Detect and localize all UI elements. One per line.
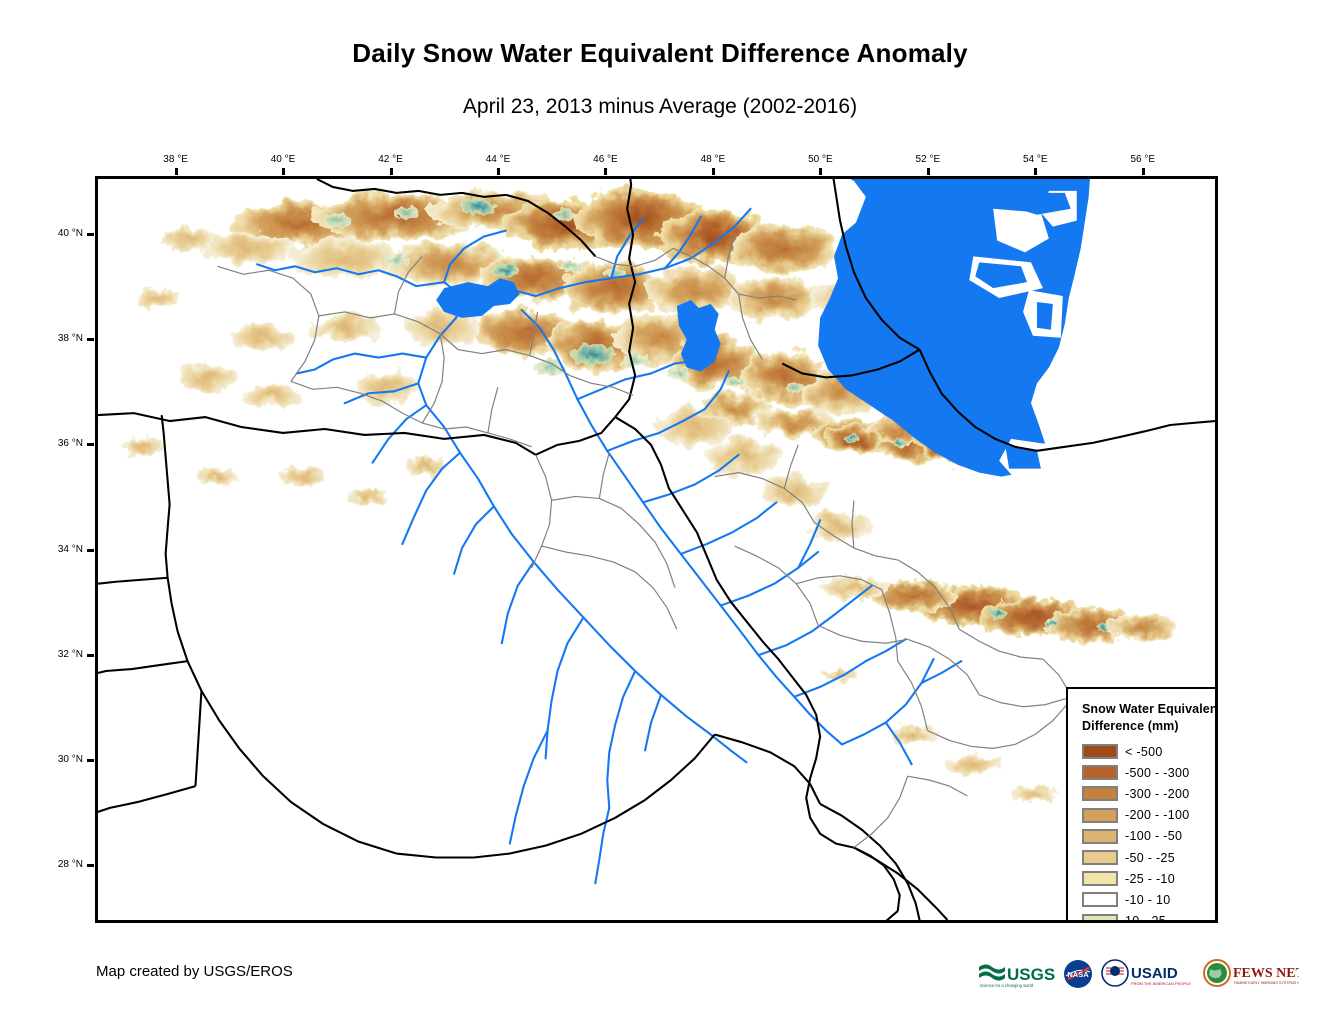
svg-text:FAMINE EARLY WARNING SYSTEMS N: FAMINE EARLY WARNING SYSTEMS NETWORK xyxy=(1234,981,1299,985)
longitude-tick-label: 52 °E xyxy=(905,154,951,165)
legend-class-label: -25 - -10 xyxy=(1125,872,1175,886)
usgs-logo[interactable]: USGS science for a changing world xyxy=(978,958,1056,990)
legend-class-row: 10 - 25 xyxy=(1082,911,1218,924)
longitude-tick-label: 48 °E xyxy=(690,154,736,165)
longitude-tick-mark xyxy=(712,168,715,175)
longitude-tick-mark xyxy=(497,168,500,175)
latitude-tick-mark xyxy=(87,759,94,762)
legend-swatch xyxy=(1082,871,1118,886)
legend-title: Snow Water Equivalent Difference (mm) xyxy=(1082,701,1218,734)
legend-class-label: -100 - -50 xyxy=(1125,829,1182,843)
legend-swatch xyxy=(1082,892,1118,907)
legend-swatch xyxy=(1082,829,1118,844)
longitude-tick-mark xyxy=(1034,168,1037,175)
legend-class-row: -300 - -200 xyxy=(1082,783,1218,804)
latitude-tick-mark xyxy=(87,864,94,867)
svg-text:FEWS NET: FEWS NET xyxy=(1233,966,1299,981)
latitude-tick-label: 38 °N xyxy=(37,333,83,344)
latitude-tick-label: 34 °N xyxy=(37,544,83,555)
usaid-logo[interactable]: USAID FROM THE AMERICAN PEOPLE xyxy=(1100,958,1196,990)
legend-title-line2: Difference (mm) xyxy=(1082,719,1179,733)
longitude-tick-label: 54 °E xyxy=(1012,154,1058,165)
longitude-tick-mark xyxy=(390,168,393,175)
latitude-tick-mark xyxy=(87,443,94,446)
latitude-tick-mark xyxy=(87,549,94,552)
longitude-tick-label: 38 °E xyxy=(153,154,199,165)
latitude-tick-label: 36 °N xyxy=(37,438,83,449)
legend-class-label: -200 - -100 xyxy=(1125,808,1189,822)
legend-swatch xyxy=(1082,786,1118,801)
fewsnet-logo[interactable]: FEWS NET FAMINE EARLY WARNING SYSTEMS NE… xyxy=(1203,958,1299,990)
legend-class-row: < -500 xyxy=(1082,741,1218,762)
latitude-tick-mark xyxy=(87,654,94,657)
latitude-tick-label: 32 °N xyxy=(37,649,83,660)
legend-swatch xyxy=(1082,765,1118,780)
legend-class-label: -300 - -200 xyxy=(1125,787,1189,801)
nasa-logo[interactable]: NASA xyxy=(1063,958,1093,990)
legend-class-row: -500 - -300 xyxy=(1082,762,1218,783)
longitude-tick-label: 44 °E xyxy=(475,154,521,165)
longitude-tick-label: 50 °E xyxy=(797,154,843,165)
longitude-tick-mark xyxy=(927,168,930,175)
legend-swatch xyxy=(1082,744,1118,759)
legend-class-row: -25 - -10 xyxy=(1082,868,1218,889)
legend-title-line1: Snow Water Equivalent xyxy=(1082,702,1218,716)
map-credit: Map created by USGS/EROS xyxy=(96,963,293,980)
svg-text:USGS: USGS xyxy=(1007,965,1055,984)
longitude-tick-mark xyxy=(175,168,178,175)
legend-class-label: -50 - -25 xyxy=(1125,851,1175,865)
legend-class-list: < -500-500 - -300-300 - -200-200 - -100-… xyxy=(1082,741,1218,923)
map-canvas[interactable] xyxy=(98,179,1215,920)
map-graphics xyxy=(98,179,1215,920)
svg-text:FROM THE AMERICAN PEOPLE: FROM THE AMERICAN PEOPLE xyxy=(1131,981,1191,986)
longitude-tick-label: 46 °E xyxy=(582,154,628,165)
longitude-tick-mark xyxy=(282,168,285,175)
latitude-tick-mark xyxy=(87,338,94,341)
longitude-tick-mark xyxy=(604,168,607,175)
longitude-tick-label: 40 °E xyxy=(260,154,306,165)
svg-text:science for a changing world: science for a changing world xyxy=(980,983,1034,988)
latitude-tick-label: 30 °N xyxy=(37,754,83,765)
legend-class-row: -10 - 10 xyxy=(1082,889,1218,910)
svg-text:NASA: NASA xyxy=(1067,970,1089,979)
latitude-tick-mark xyxy=(87,233,94,236)
legend-swatch xyxy=(1082,850,1118,865)
agency-logos: USGS science for a changing world NASA U… xyxy=(978,957,1299,991)
page-title: Daily Snow Water Equivalent Difference A… xyxy=(0,38,1320,69)
latitude-tick-label: 28 °N xyxy=(37,859,83,870)
legend-class-label: < -500 xyxy=(1125,745,1163,759)
legend-class-row: -200 - -100 xyxy=(1082,805,1218,826)
legend-swatch xyxy=(1082,914,1118,923)
longitude-tick-mark xyxy=(819,168,822,175)
longitude-tick-label: 56 °E xyxy=(1120,154,1166,165)
map-frame[interactable]: Snow Water Equivalent Difference (mm) < … xyxy=(95,176,1218,923)
latitude-tick-label: 40 °N xyxy=(37,228,83,239)
legend-class-row: -100 - -50 xyxy=(1082,826,1218,847)
page-subtitle: April 23, 2013 minus Average (2002-2016) xyxy=(0,95,1320,119)
svg-text:USAID: USAID xyxy=(1131,965,1178,982)
map-legend: Snow Water Equivalent Difference (mm) < … xyxy=(1066,687,1218,923)
legend-class-row: -50 - -25 xyxy=(1082,847,1218,868)
longitude-tick-label: 42 °E xyxy=(368,154,414,165)
legend-class-label: -500 - -300 xyxy=(1125,766,1189,780)
legend-class-label: 10 - 25 xyxy=(1125,914,1166,923)
legend-class-label: -10 - 10 xyxy=(1125,893,1170,907)
longitude-tick-mark xyxy=(1142,168,1145,175)
legend-swatch xyxy=(1082,808,1118,823)
